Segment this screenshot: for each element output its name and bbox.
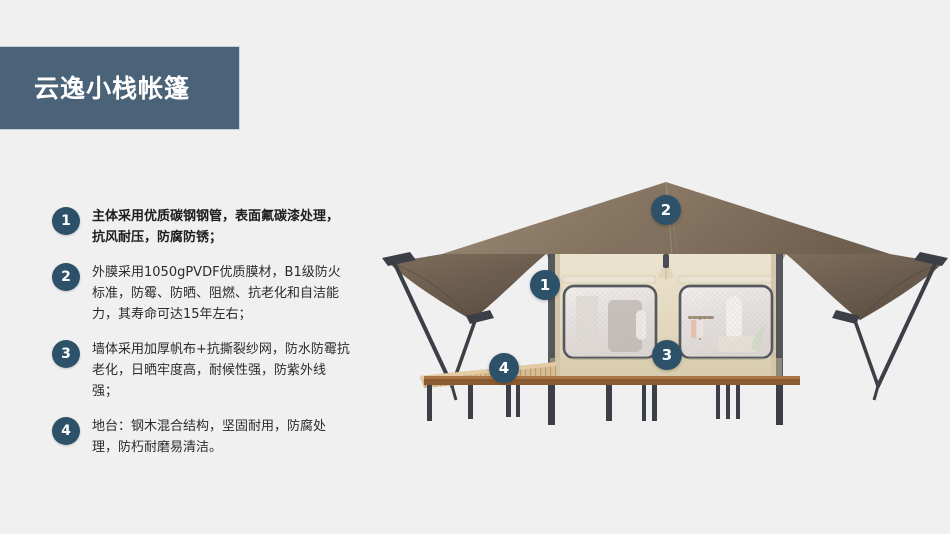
feature-badge-1: 1 — [52, 207, 80, 235]
feature-list: 1 主体采用优质碳钢钢管，表面氟碳漆处理，抗风耐压，防腐防锈； 2 外膜采用10… — [52, 206, 352, 472]
feature-badge-3: 3 — [52, 340, 80, 368]
callout-badge-4: 4 — [489, 353, 519, 383]
feature-item-4: 4 地台：钢木混合结构，坚固耐用，防腐处理，防朽耐磨易清洁。 — [52, 416, 352, 458]
feature-item-2: 2 外膜采用1050gPVDF优质膜材，B1级防火标准，防霉、防晒、阻燃、抗老化… — [52, 262, 352, 325]
title-banner: 云逸小栈帐篷 — [0, 46, 240, 130]
feature-text-4: 地台：钢木混合结构，坚固耐用，防腐处理，防朽耐磨易清洁。 — [92, 416, 350, 458]
callout-badge-2: 2 — [651, 195, 681, 225]
feature-item-1: 1 主体采用优质碳钢钢管，表面氟碳漆处理，抗风耐压，防腐防锈； — [52, 206, 352, 248]
feature-text-3: 墙体采用加厚帆布+抗撕裂纱网，防水防霉抗老化，日晒牢度高，耐候性强，防紫外线强； — [92, 339, 350, 402]
feature-item-3: 3 墙体采用加厚帆布+抗撕裂纱网，防水防霉抗老化，日晒牢度高，耐候性强，防紫外线… — [52, 339, 352, 402]
callout-badge-3: 3 — [652, 340, 682, 370]
feature-badge-4: 4 — [52, 417, 80, 445]
slide-page: 云逸小栈帐篷 1 主体采用优质碳钢钢管，表面氟碳漆处理，抗风耐压，防腐防锈； 2… — [0, 0, 950, 534]
callout-badge-1: 1 — [530, 270, 560, 300]
page-title: 云逸小栈帐篷 — [34, 76, 190, 101]
feature-text-1: 主体采用优质碳钢钢管，表面氟碳漆处理，抗风耐压，防腐防锈； — [92, 206, 350, 248]
feature-badge-2: 2 — [52, 263, 80, 291]
feature-text-2: 外膜采用1050gPVDF优质膜材，B1级防火标准，防霉、防晒、阻燃、抗老化和自… — [92, 262, 350, 325]
